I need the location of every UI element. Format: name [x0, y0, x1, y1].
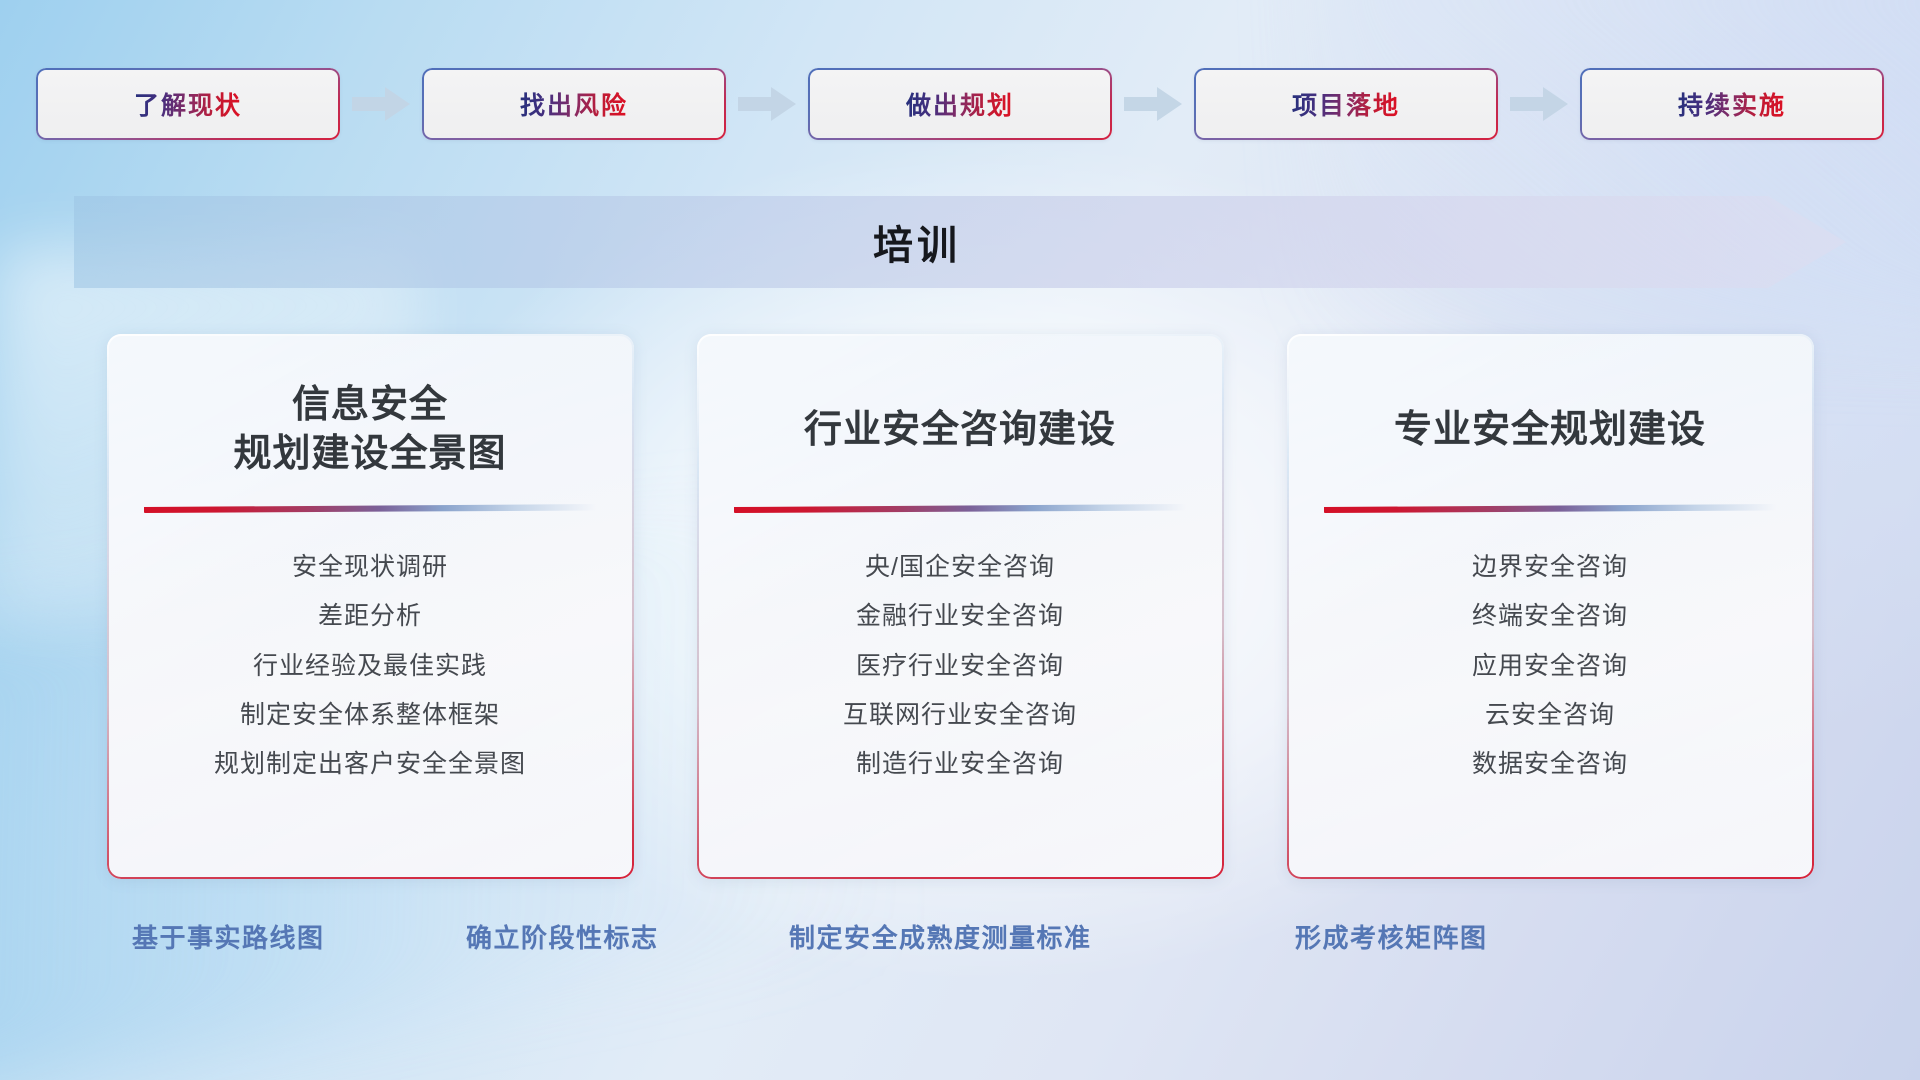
right-arrow-icon	[738, 87, 796, 121]
list-item: 安全现状调研	[292, 549, 448, 585]
infographic-slide: 了解现状 找出风险 做出规划 项目落地 持续实施 培训	[0, 0, 1920, 1080]
step-item-3[interactable]: 做出规划	[808, 68, 1112, 140]
list-item: 金融行业安全咨询	[856, 598, 1064, 634]
list-item: 云安全咨询	[1485, 697, 1615, 733]
list-item: 行业经验及最佳实践	[253, 648, 487, 684]
step-item-2[interactable]: 找出风险	[422, 68, 726, 140]
step-label: 项目落地	[1292, 86, 1400, 122]
card-information-security-blueprint[interactable]: 信息安全 规划建设全景图 安全现状调研 差距分析 行业经验及最佳实践 制定安全体…	[107, 334, 634, 879]
card-title: 信息安全 规划建设全景图	[233, 380, 506, 480]
step-label: 持续实施	[1678, 86, 1786, 122]
list-item: 互联网行业安全咨询	[843, 697, 1077, 733]
caption-item: 形成考核矩阵图	[1295, 918, 1488, 955]
training-banner: 培训	[74, 196, 1846, 288]
card-item-list: 安全现状调研 差距分析 行业经验及最佳实践 制定安全体系整体框架 规划制定出客户…	[141, 549, 600, 782]
step-item-5[interactable]: 持续实施	[1580, 68, 1884, 140]
step-flow: 了解现状 找出风险 做出规划 项目落地 持续实施	[0, 68, 1920, 140]
list-item: 边界安全咨询	[1472, 549, 1628, 585]
card-title-line: 专业安全规划建设	[1394, 406, 1706, 455]
list-item: 制定安全体系整体框架	[240, 697, 500, 733]
step-label: 做出规划	[906, 86, 1014, 122]
step-item-1[interactable]: 了解现状	[36, 68, 340, 140]
caption-item: 确立阶段性标志	[466, 918, 659, 955]
card-divider	[144, 504, 596, 513]
right-arrow-icon	[1124, 87, 1182, 121]
list-item: 应用安全咨询	[1472, 648, 1628, 684]
card-title-line: 规划建设全景图	[233, 430, 506, 479]
card-divider	[734, 504, 1186, 513]
card-professional-security-planning[interactable]: 专业安全规划建设 边界安全咨询 终端安全咨询 应用安全咨询 云安全咨询 数据安全…	[1287, 334, 1814, 879]
right-arrow-icon	[1510, 87, 1568, 121]
card-divider	[1324, 504, 1776, 513]
card-industry-security-consulting[interactable]: 行业安全咨询建设 央/国企安全咨询 金融行业安全咨询 医疗行业安全咨询 互联网行…	[697, 334, 1224, 879]
card-title-line: 信息安全	[233, 381, 506, 430]
caption-row: 基于事实路线图 确立阶段性标志 制定安全成熟度测量标准 形成考核矩阵图	[0, 918, 1920, 964]
list-item: 数据安全咨询	[1472, 746, 1628, 782]
list-item: 央/国企安全咨询	[865, 549, 1055, 585]
step-label: 了解现状	[134, 86, 242, 122]
card-title-line: 行业安全咨询建设	[804, 406, 1116, 455]
caption-item: 基于事实路线图	[132, 918, 325, 955]
card-title: 专业安全规划建设	[1394, 380, 1706, 480]
list-item: 规划制定出客户安全全景图	[214, 746, 526, 782]
right-arrow-icon	[352, 87, 410, 121]
card-item-list: 边界安全咨询 终端安全咨询 应用安全咨询 云安全咨询 数据安全咨询	[1321, 549, 1780, 782]
card-row: 信息安全 规划建设全景图 安全现状调研 差距分析 行业经验及最佳实践 制定安全体…	[0, 334, 1920, 879]
list-item: 差距分析	[318, 598, 422, 634]
card-title: 行业安全咨询建设	[804, 380, 1116, 480]
list-item: 医疗行业安全咨询	[856, 648, 1064, 684]
caption-item: 制定安全成熟度测量标准	[789, 918, 1092, 955]
list-item: 终端安全咨询	[1472, 598, 1628, 634]
banner-label: 培训	[74, 196, 1846, 288]
background-streak-right	[1320, 0, 1920, 340]
list-item: 制造行业安全咨询	[856, 746, 1064, 782]
step-label: 找出风险	[520, 86, 628, 122]
step-item-4[interactable]: 项目落地	[1194, 68, 1498, 140]
card-item-list: 央/国企安全咨询 金融行业安全咨询 医疗行业安全咨询 互联网行业安全咨询 制造行…	[731, 549, 1190, 782]
